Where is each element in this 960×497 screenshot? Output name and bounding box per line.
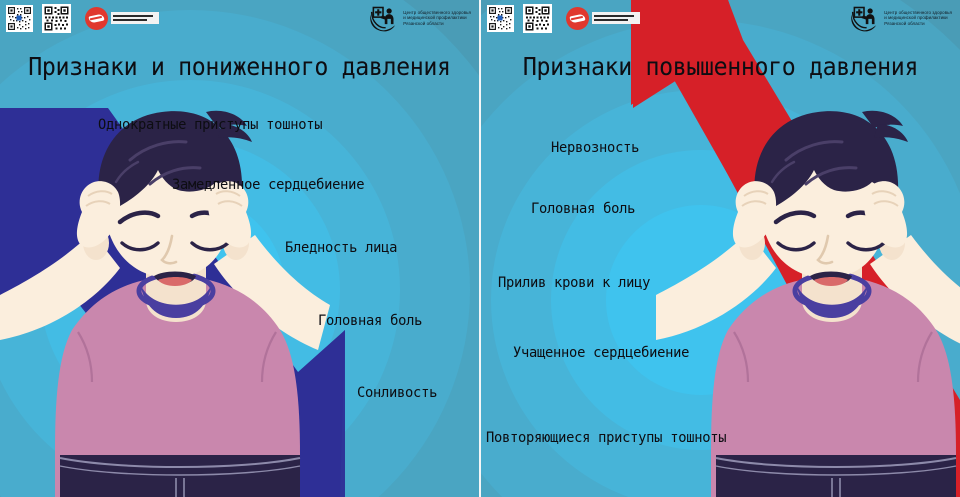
panel-divider xyxy=(479,0,481,497)
health-center-logo-icon xyxy=(849,4,879,32)
symptom-low-2: Замедленное сердцебиение xyxy=(172,177,364,193)
health-center-logo-text: Центр общественного здоровья и медицинск… xyxy=(884,10,952,26)
hotline-label xyxy=(592,12,640,24)
logo-line-2: и медицинской профилактики xyxy=(884,15,952,20)
health-center-logo-icon xyxy=(368,4,398,32)
logo-line-3: Рязанской области xyxy=(403,21,471,26)
red-circle-badge-icon xyxy=(85,7,108,30)
panel-low-pressure: Центр общественного здоровья и медицинск… xyxy=(0,0,479,497)
panel-high-pressure: Центр общественного здоровья и медицинск… xyxy=(481,0,960,497)
page-title-high: Признаки повышенного давления xyxy=(498,52,943,81)
health-center-logo: Центр общественного здоровья и медицинск… xyxy=(368,4,471,32)
red-circle-badge-icon xyxy=(566,7,589,30)
logo-line-3: Рязанской области xyxy=(884,21,952,26)
symptom-high-4: Учащенное сердцебиение xyxy=(513,345,689,361)
hotline-badge[interactable] xyxy=(566,7,640,30)
symptom-low-1: Однократные приступы тошноты xyxy=(98,117,322,133)
qr-code-1-icon[interactable] xyxy=(487,5,514,32)
header-right: Центр общественного здоровья и медицинск… xyxy=(481,0,960,36)
symptom-high-1: Нервозность xyxy=(551,140,639,156)
infographic-poster: Центр общественного здоровья и медицинск… xyxy=(0,0,960,497)
logo-line-2: и медицинской профилактики xyxy=(403,15,471,20)
symptom-low-3: Бледность лица xyxy=(285,240,397,256)
symptom-high-3: Прилив крови к лицу xyxy=(498,275,650,291)
symptom-low-5: Сонливость xyxy=(357,385,437,401)
health-center-logo: Центр общественного здоровья и медицинск… xyxy=(849,4,952,32)
symptom-high-5: Повторяющиеся приступы тошноты xyxy=(486,430,726,446)
hotline-label xyxy=(111,12,159,24)
health-center-logo-text: Центр общественного здоровья и медицинск… xyxy=(403,10,471,26)
header-left: Центр общественного здоровья и медицинск… xyxy=(0,0,479,36)
qr-code-2-icon[interactable] xyxy=(523,4,552,33)
qr-code-1-icon[interactable] xyxy=(6,5,33,32)
symptom-low-4: Головная боль xyxy=(318,313,422,329)
page-title-low: Признаки и пониженного давления xyxy=(17,52,462,81)
qr-code-2-icon[interactable] xyxy=(42,4,71,33)
hotline-badge[interactable] xyxy=(85,7,159,30)
symptom-high-2: Головная боль xyxy=(531,201,635,217)
